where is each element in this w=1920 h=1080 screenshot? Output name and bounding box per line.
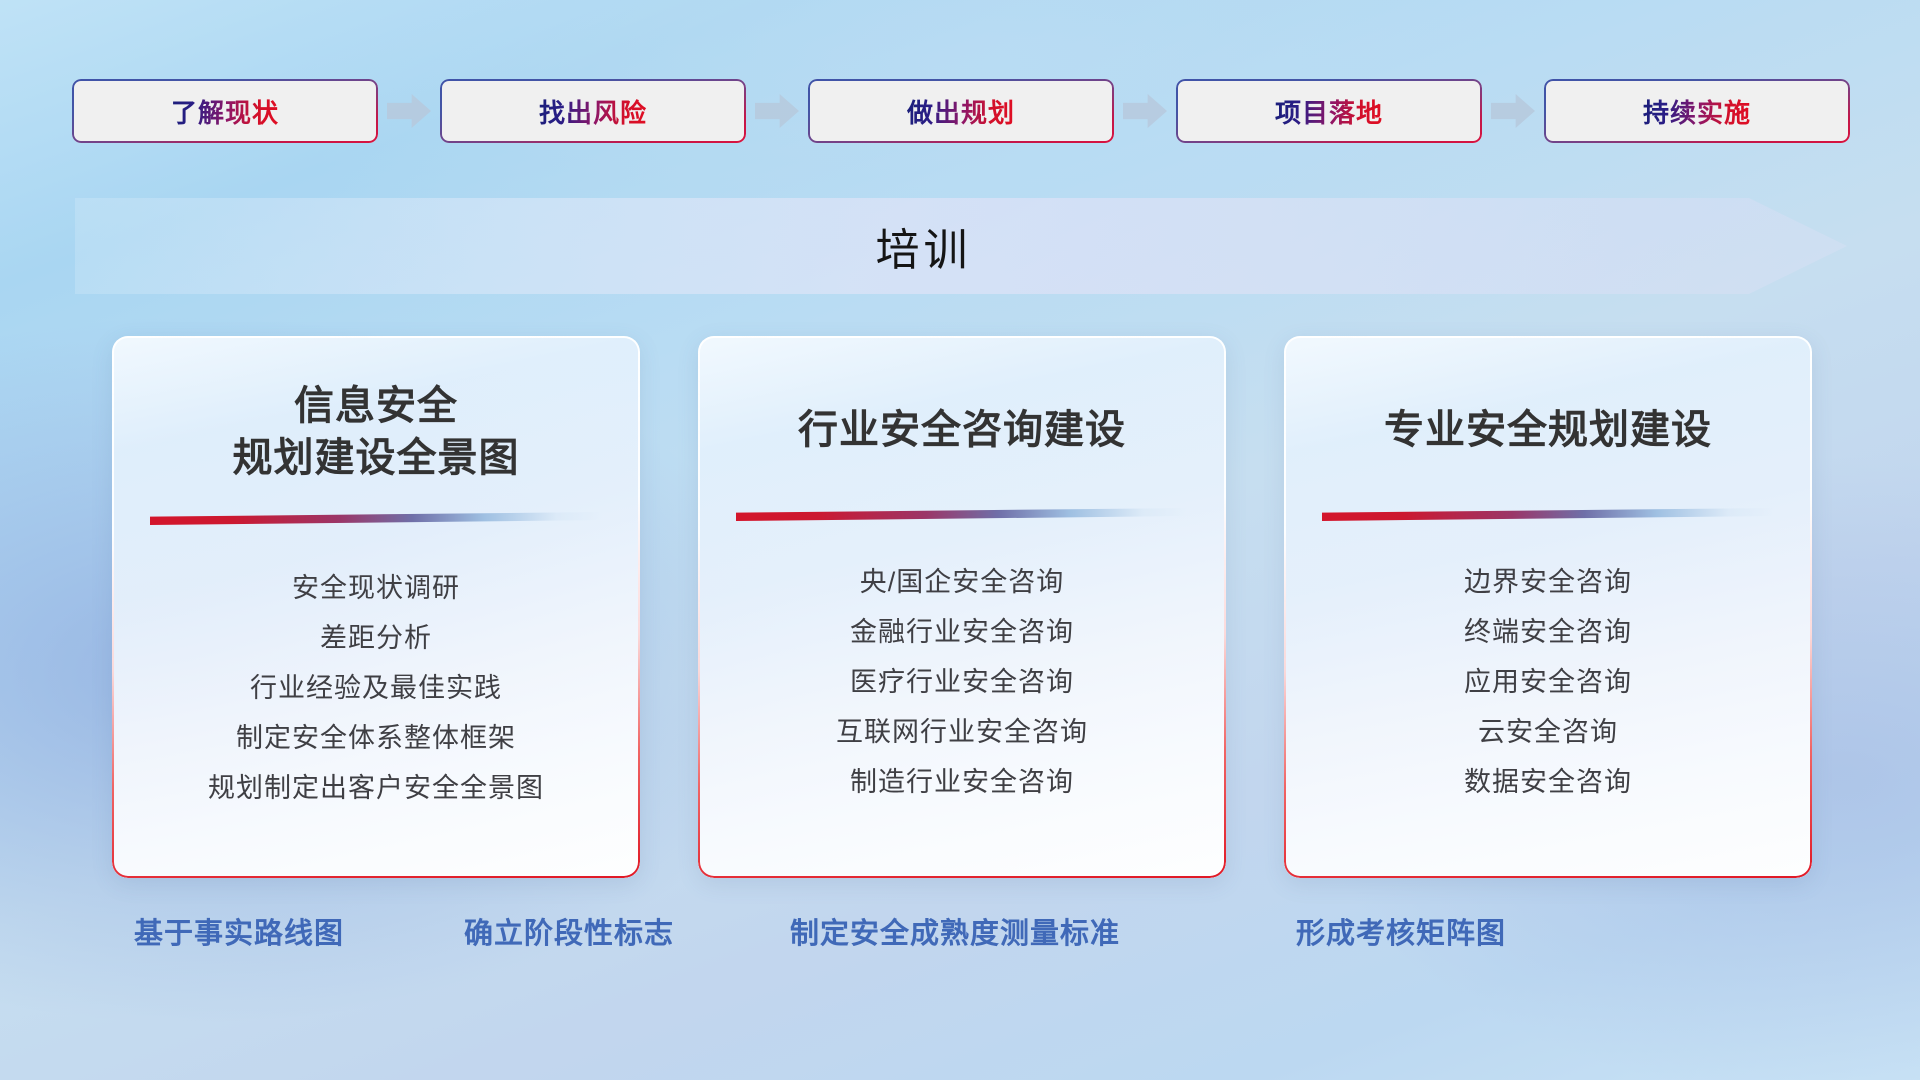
card-divider-icon	[1322, 508, 1774, 521]
step-label-2: 找出风险	[539, 93, 647, 130]
process-step-row: 了解现状 找出风险 做出规划 项目落地 持续实施	[72, 78, 1850, 144]
step-label-5: 持续实施	[1643, 93, 1751, 130]
card-title: 行业安全咨询建设	[724, 336, 1200, 456]
list-item: 规划制定出客户安全全景图	[138, 763, 614, 813]
bottom-label-row: 基于事实路线图 确立阶段性标志 制定安全成熟度测量标准 形成考核矩阵图	[0, 910, 1920, 956]
card-inner: 信息安全 规划建设全景图 安全现状调研 差距分析 行业经验及最佳实践 制定安全体…	[112, 336, 640, 878]
list-item: 数据安全咨询	[1310, 757, 1786, 807]
list-item: 制定安全体系整体框架	[138, 713, 614, 763]
step-box-1[interactable]: 了解现状	[72, 79, 378, 143]
list-item: 应用安全咨询	[1310, 657, 1786, 707]
list-item: 安全现状调研	[138, 563, 614, 613]
card-item-list: 央/国企安全咨询 金融行业安全咨询 医疗行业安全咨询 互联网行业安全咨询 制造行…	[724, 557, 1200, 807]
card-inner: 行业安全咨询建设 央/国企安全咨询 金融行业安全咨询 医疗行业安全咨询 互联网行…	[698, 336, 1226, 878]
list-item: 差距分析	[138, 613, 614, 663]
list-item: 制造行业安全咨询	[724, 757, 1200, 807]
card-inner: 专业安全规划建设 边界安全咨询 终端安全咨询 应用安全咨询 云安全咨询 数据安全…	[1284, 336, 1812, 878]
bottom-label-2: 确立阶段性标志	[464, 910, 674, 952]
card-divider-icon	[150, 512, 602, 525]
step-box-3[interactable]: 做出规划	[808, 79, 1114, 143]
list-item: 行业经验及最佳实践	[138, 663, 614, 713]
card-title: 专业安全规划建设	[1310, 336, 1786, 456]
bottom-label-3: 制定安全成熟度测量标准	[790, 910, 1120, 952]
step-label-1: 了解现状	[171, 93, 279, 130]
step-arrow-icon-3	[1123, 94, 1167, 128]
training-banner-title: 培训	[0, 198, 1772, 294]
list-item: 云安全咨询	[1310, 707, 1786, 757]
slide-canvas: 了解现状 找出风险 做出规划 项目落地 持续实施 培训 信息安全 规划建设全景图	[0, 0, 1920, 1080]
card-divider-icon	[736, 508, 1188, 521]
step-arrow-icon-4	[1491, 94, 1535, 128]
card-information-security-blueprint[interactable]: 信息安全 规划建设全景图 安全现状调研 差距分析 行业经验及最佳实践 制定安全体…	[112, 336, 640, 878]
list-item: 终端安全咨询	[1310, 607, 1786, 657]
step-label-4: 项目落地	[1275, 93, 1383, 130]
list-item: 互联网行业安全咨询	[724, 707, 1200, 757]
card-row: 信息安全 规划建设全景图 安全现状调研 差距分析 行业经验及最佳实践 制定安全体…	[112, 336, 1812, 878]
step-box-5[interactable]: 持续实施	[1544, 79, 1850, 143]
list-item: 金融行业安全咨询	[724, 607, 1200, 657]
step-label-3: 做出规划	[907, 93, 1015, 130]
list-item: 边界安全咨询	[1310, 557, 1786, 607]
step-arrow-icon-2	[755, 94, 799, 128]
bottom-label-4: 形成考核矩阵图	[1296, 910, 1506, 952]
list-item: 医疗行业安全咨询	[724, 657, 1200, 707]
step-box-2[interactable]: 找出风险	[440, 79, 746, 143]
card-professional-security-planning[interactable]: 专业安全规划建设 边界安全咨询 终端安全咨询 应用安全咨询 云安全咨询 数据安全…	[1284, 336, 1812, 878]
step-arrow-icon-1	[387, 94, 431, 128]
card-item-list: 边界安全咨询 终端安全咨询 应用安全咨询 云安全咨询 数据安全咨询	[1310, 557, 1786, 807]
list-item: 央/国企安全咨询	[724, 557, 1200, 607]
card-industry-security-consulting[interactable]: 行业安全咨询建设 央/国企安全咨询 金融行业安全咨询 医疗行业安全咨询 互联网行…	[698, 336, 1226, 878]
card-item-list: 安全现状调研 差距分析 行业经验及最佳实践 制定安全体系整体框架 规划制定出客户…	[138, 563, 614, 813]
card-title: 信息安全 规划建设全景图	[138, 336, 614, 484]
bottom-label-1: 基于事实路线图	[134, 910, 344, 952]
step-box-4[interactable]: 项目落地	[1176, 79, 1482, 143]
